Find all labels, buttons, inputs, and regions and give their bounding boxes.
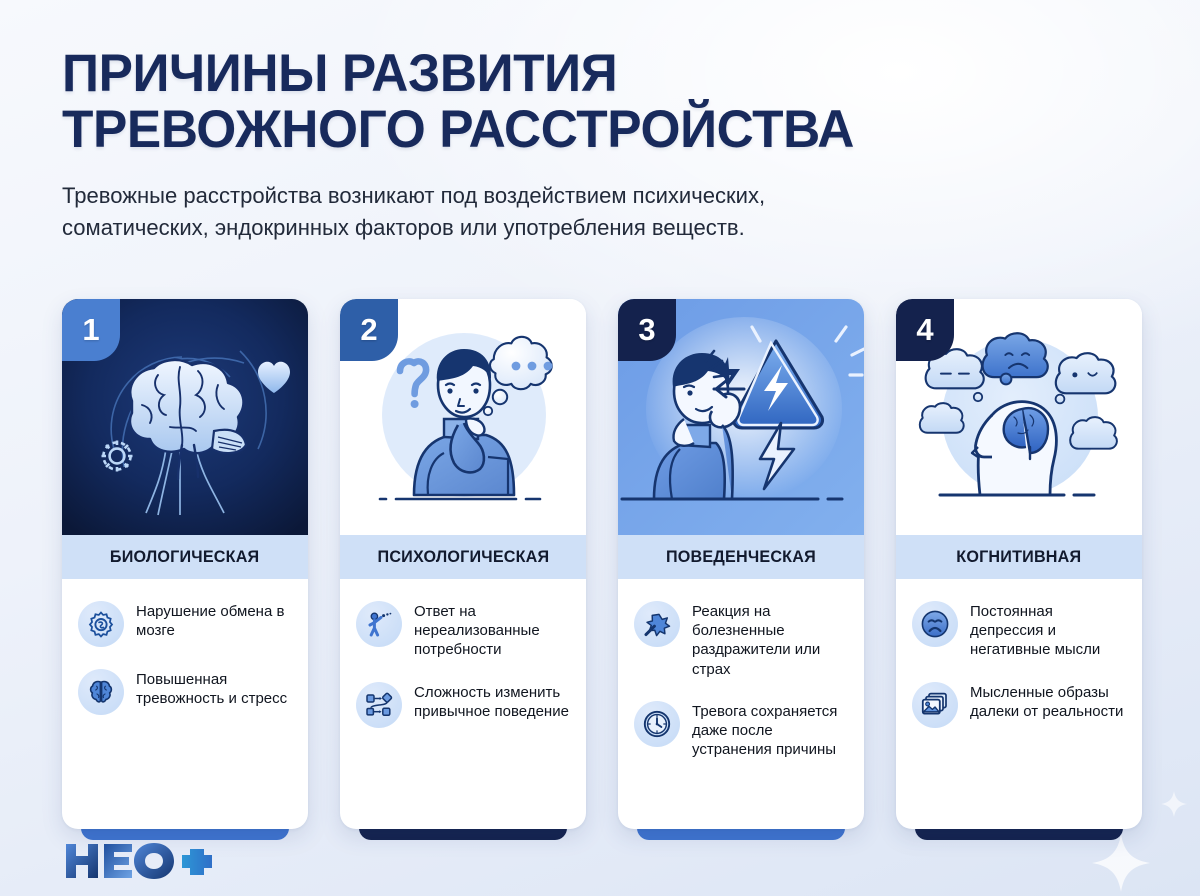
card-label-band: ПСИХОЛОГИЧЕСКАЯ [340,535,586,579]
card-label: ПОВЕДЕНЧЕСКАЯ [666,547,816,567]
cause-cards-row: 1 БИОЛОГИЧЕСКАЯ Нарушение обмена в мозге [62,299,1140,829]
card-bullet-list: Нарушение обмена в мозге П [62,579,308,829]
bullet-item: Тревога сохраняется даже после устранени… [634,701,848,760]
card-label-band: КОГНИТИВНАЯ [896,535,1142,579]
bullet-item: Постоянная депрессия и негативные мысли [912,601,1126,660]
images-icon [912,682,958,728]
cause-card-behavioral[interactable]: 3 ПОВЕДЕНЧЕСКАЯ Реакция на болезненные р… [618,299,864,829]
bullet-text: Постоянная депрессия и негативные мысли [970,601,1126,660]
bullet-text: Нарушение обмена в мозге [136,601,292,640]
page-title-line-2: ТРЕВОЖНОГО РАССТРОЙСТВА [62,102,1081,158]
bullet-text: Сложность изменить привычное поведение [414,682,570,721]
card-number-badge: 4 [896,299,954,361]
neo-plus-logo-icon [64,838,214,884]
cause-card-psychological[interactable]: 2 ПСИХОЛОГИЧЕСКАЯ Ответ на нереализованн… [340,299,586,829]
bullet-text: Мысленные образы далеки от реальности [970,682,1126,721]
card-illustration-area: 4 [896,299,1142,535]
sad-face-icon [912,601,958,647]
bullet-item: Мысленные образы далеки от реальности [912,682,1126,728]
card-label-band: БИОЛОГИЧЕСКАЯ [62,535,308,579]
card-bullet-list: Реакция на болезненные раздражители или … [618,579,864,829]
bullet-item: Реакция на болезненные раздражители или … [634,601,848,679]
bullet-item: Нарушение обмена в мозге [78,601,292,647]
person-reaching-icon [356,601,402,647]
sparkle-decoration-right [1090,832,1152,894]
bullet-text: Повышенная тревожность и стресс [136,669,292,708]
page-subtitle: Тревожные расстройства возникают под воз… [62,180,1091,244]
card-number: 2 [360,312,377,348]
bullet-item: Сложность изменить привычное поведение [356,682,570,728]
card-bullet-list: Ответ на нереализованные потребности [340,579,586,829]
flowchart-icon [356,682,402,728]
page-title-line-1: ПРИЧИНЫ РАЗВИТИЯ [62,46,1081,102]
card-number: 4 [916,312,933,348]
card-label: ПСИХОЛОГИЧЕСКАЯ [377,547,549,567]
page-title: ПРИЧИНЫ РАЗВИТИЯ ТРЕВОЖНОГО РАССТРОЙСТВА [62,46,1081,158]
brand-logo [64,838,214,884]
card-label: БИОЛОГИЧЕСКАЯ [110,547,259,567]
card-label: КОГНИТИВНАЯ [956,547,1081,567]
brain-icon [78,669,124,715]
card-number-badge: 3 [618,299,676,361]
bullet-text: Ответ на нереализованные потребности [414,601,570,660]
bullet-item: Повышенная тревожность и стресс [78,669,292,715]
bullet-item: Ответ на нереализованные потребности [356,601,570,660]
clock-icon [634,701,680,747]
card-label-band: ПОВЕДЕНЧЕСКАЯ [618,535,864,579]
page-subtitle-line-1: Тревожные расстройства возникают под воз… [62,180,1091,212]
page-subtitle-line-2: соматических, эндокринных факторов или у… [62,212,1091,244]
card-illustration-area: 3 [618,299,864,535]
card-bullet-list: Постоянная депрессия и негативные мысли … [896,579,1142,829]
sparkle-decoration-small [1160,790,1188,818]
cause-card-biological[interactable]: 1 БИОЛОГИЧЕСКАЯ Нарушение обмена в мозге [62,299,308,829]
bullet-text: Тревога сохраняется даже после устранени… [692,701,848,760]
card-illustration-area: 2 [340,299,586,535]
burst-icon [634,601,680,647]
card-number: 3 [638,312,655,348]
cause-card-cognitive[interactable]: 4 КОГНИТИВНАЯ Посто [896,299,1142,829]
card-illustration-area: 1 [62,299,308,535]
page-header: ПРИЧИНЫ РАЗВИТИЯ ТРЕВОЖНОГО РАССТРОЙСТВА… [62,46,1112,244]
card-number-badge: 1 [62,299,120,361]
card-number-badge: 2 [340,299,398,361]
card-number: 1 [82,312,99,348]
bullet-text: Реакция на болезненные раздражители или … [692,601,848,679]
gear-metabolism-icon [78,601,124,647]
